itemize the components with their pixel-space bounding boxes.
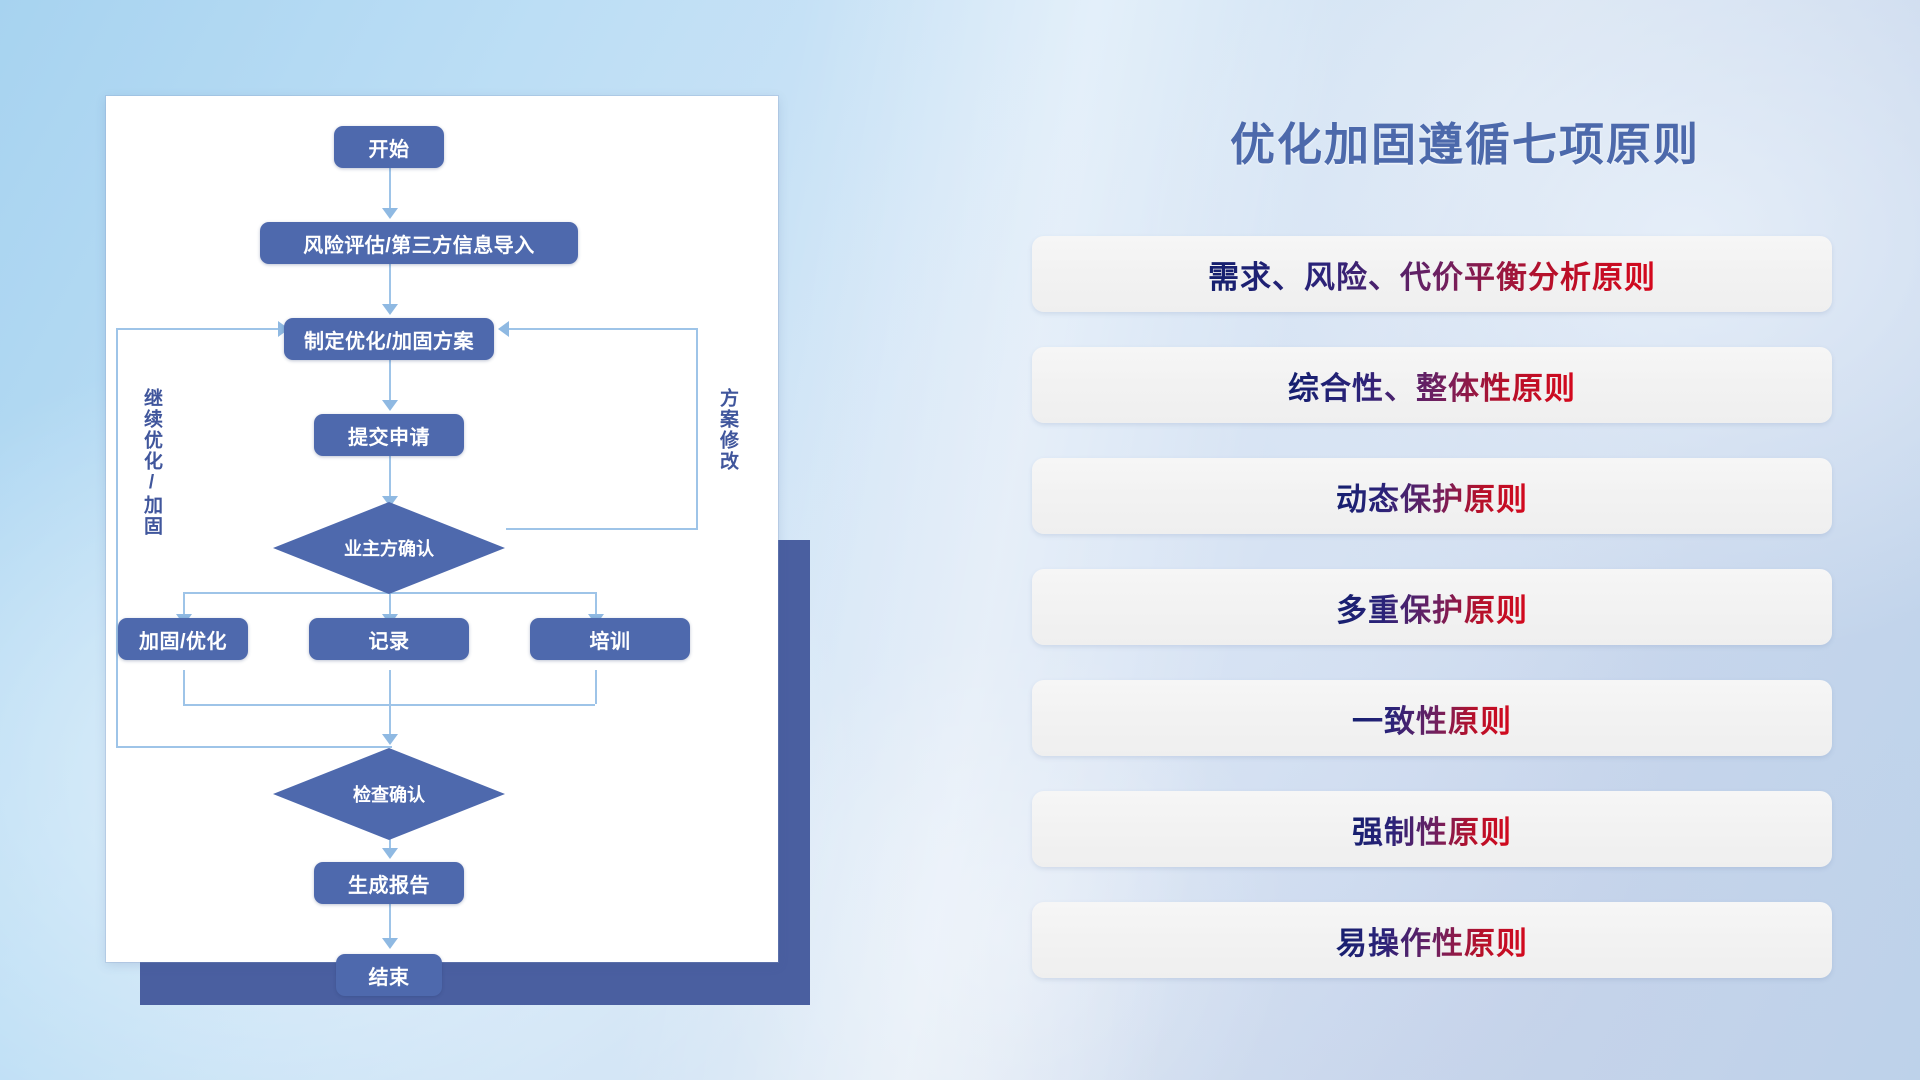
- flow-node-owner-confirm-label: 业主方确认: [344, 535, 434, 561]
- edge-loop-left-top: [116, 328, 282, 330]
- principle-card-6-label: 强制性原则: [1352, 807, 1512, 852]
- flow-node-plan[interactable]: 制定优化/加固方案: [284, 318, 494, 360]
- flow-node-end-label: 结束: [369, 961, 410, 990]
- principle-card-4[interactable]: 多重保护原则: [1032, 569, 1832, 645]
- flow-node-start[interactable]: 开始: [334, 126, 444, 168]
- principle-card-7[interactable]: 易操作性原则: [1032, 902, 1832, 978]
- principle-card-3-label: 动态保护原则: [1336, 474, 1528, 519]
- edge-loop-left-vertical: [116, 328, 118, 748]
- principle-card-5-label: 一致性原则: [1352, 696, 1512, 741]
- page-title: 优化加固遵循七项原则: [1010, 108, 1920, 173]
- flow-node-submit-application[interactable]: 提交申请: [314, 414, 464, 456]
- flow-node-submit-application-label: 提交申请: [348, 421, 430, 450]
- edge-loop-right-top: [508, 328, 698, 330]
- arrowhead-merge-check: [382, 734, 398, 745]
- principle-card-list: 需求、风险、代价平衡分析原则 综合性、整体性原则 动态保护原则 多重保护原则 一…: [1032, 236, 1832, 1013]
- principle-card-1[interactable]: 需求、风险、代价平衡分析原则: [1032, 236, 1832, 312]
- flow-node-inspection-confirm[interactable]: 检查确认: [273, 748, 505, 840]
- principle-card-1-label: 需求、风险、代价平衡分析原则: [1208, 252, 1656, 297]
- principle-card-4-label: 多重保护原则: [1336, 585, 1528, 630]
- principle-card-2-label: 综合性、整体性原则: [1288, 363, 1576, 408]
- edge-label-continue-optimize: 继续优化/加固: [138, 388, 165, 537]
- flow-node-record-label: 记录: [369, 625, 410, 654]
- edge-label-plan-revision: 方案修改: [714, 388, 741, 472]
- flow-node-owner-confirm[interactable]: 业主方确认: [273, 502, 505, 594]
- edge-reinforce-merge: [183, 670, 185, 704]
- flow-node-risk-assessment[interactable]: 风险评估/第三方信息导入: [260, 222, 578, 264]
- arrowhead-check-report: [382, 848, 398, 859]
- flow-node-record[interactable]: 记录: [309, 618, 469, 660]
- flow-node-plan-label: 制定优化/加固方案: [304, 325, 474, 354]
- arrowhead-start-assess: [382, 208, 398, 219]
- arrowhead-loop-right: [498, 321, 509, 337]
- flow-node-training-label: 培训: [590, 625, 631, 654]
- arrowhead-assess-plan: [382, 304, 398, 315]
- edge-loop-right-bottom: [506, 528, 698, 530]
- arrowhead-report-end: [382, 938, 398, 949]
- flow-node-inspection-confirm-label: 检查确认: [353, 781, 425, 807]
- edge-loop-left-bottom: [116, 746, 392, 748]
- flowchart-panel: 开始 风险评估/第三方信息导入 制定优化/加固方案 提交申请 业主方确认 加固/…: [106, 96, 778, 962]
- flow-node-reinforce[interactable]: 加固/优化: [118, 618, 248, 660]
- flow-node-generate-report-label: 生成报告: [348, 869, 430, 898]
- flow-node-training[interactable]: 培训: [530, 618, 690, 660]
- principle-card-7-label: 易操作性原则: [1336, 918, 1528, 963]
- flow-node-start-label: 开始: [369, 133, 410, 162]
- principle-card-2[interactable]: 综合性、整体性原则: [1032, 347, 1832, 423]
- principle-card-3[interactable]: 动态保护原则: [1032, 458, 1832, 534]
- principles-panel: 优化加固遵循七项原则 需求、风险、代价平衡分析原则 综合性、整体性原则 动态保护…: [1010, 0, 1920, 1080]
- flow-node-reinforce-label: 加固/优化: [139, 625, 227, 654]
- arrowhead-plan-submit: [382, 400, 398, 411]
- flow-node-risk-assessment-label: 风险评估/第三方信息导入: [303, 229, 535, 258]
- flow-node-end[interactable]: 结束: [336, 954, 442, 996]
- edge-record-check: [389, 670, 391, 740]
- principle-card-6[interactable]: 强制性原则: [1032, 791, 1832, 867]
- principle-card-5[interactable]: 一致性原则: [1032, 680, 1832, 756]
- edge-loop-right-vertical: [696, 328, 698, 530]
- flow-node-generate-report[interactable]: 生成报告: [314, 862, 464, 904]
- edge-train-merge: [595, 670, 597, 704]
